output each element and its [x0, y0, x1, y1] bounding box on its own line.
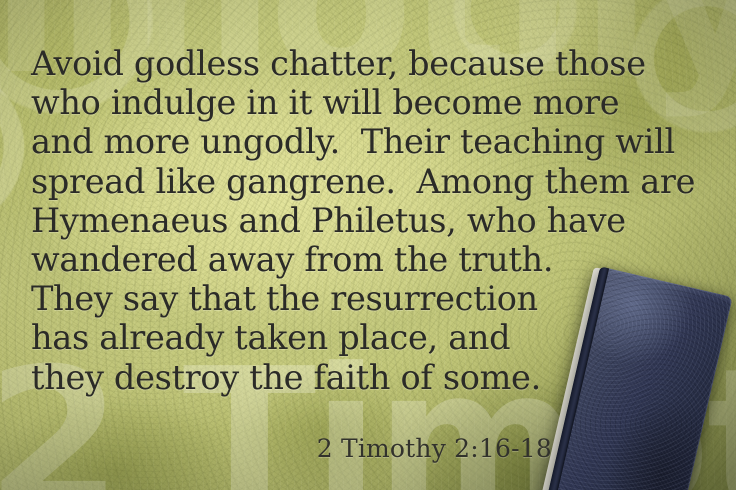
verse-line: they destroy the faith of some.	[31, 358, 703, 397]
verse-line: They say that the resurrection	[31, 279, 703, 318]
scripture-citation: 2 Timothy 2:16-18	[0, 434, 552, 463]
verse-line: who indulge in it will become more	[31, 83, 703, 122]
verse-text-block: Avoid godless chatter, because those who…	[31, 44, 703, 397]
verse-line: and more ungodly. Their teaching will	[31, 122, 703, 161]
verse-line: has already taken place, and	[31, 318, 703, 357]
verse-line: Avoid godless chatter, because those	[31, 44, 703, 83]
verse-line: wandered away from the truth.	[31, 240, 703, 279]
verse-line: Hymenaeus and Philetus, who have	[31, 201, 703, 240]
verse-line: spread like gangrene. Among them are	[31, 162, 703, 201]
scripture-verse-poster: 2 Timothy 2 Timothy Avoid godless chatte…	[0, 0, 736, 490]
